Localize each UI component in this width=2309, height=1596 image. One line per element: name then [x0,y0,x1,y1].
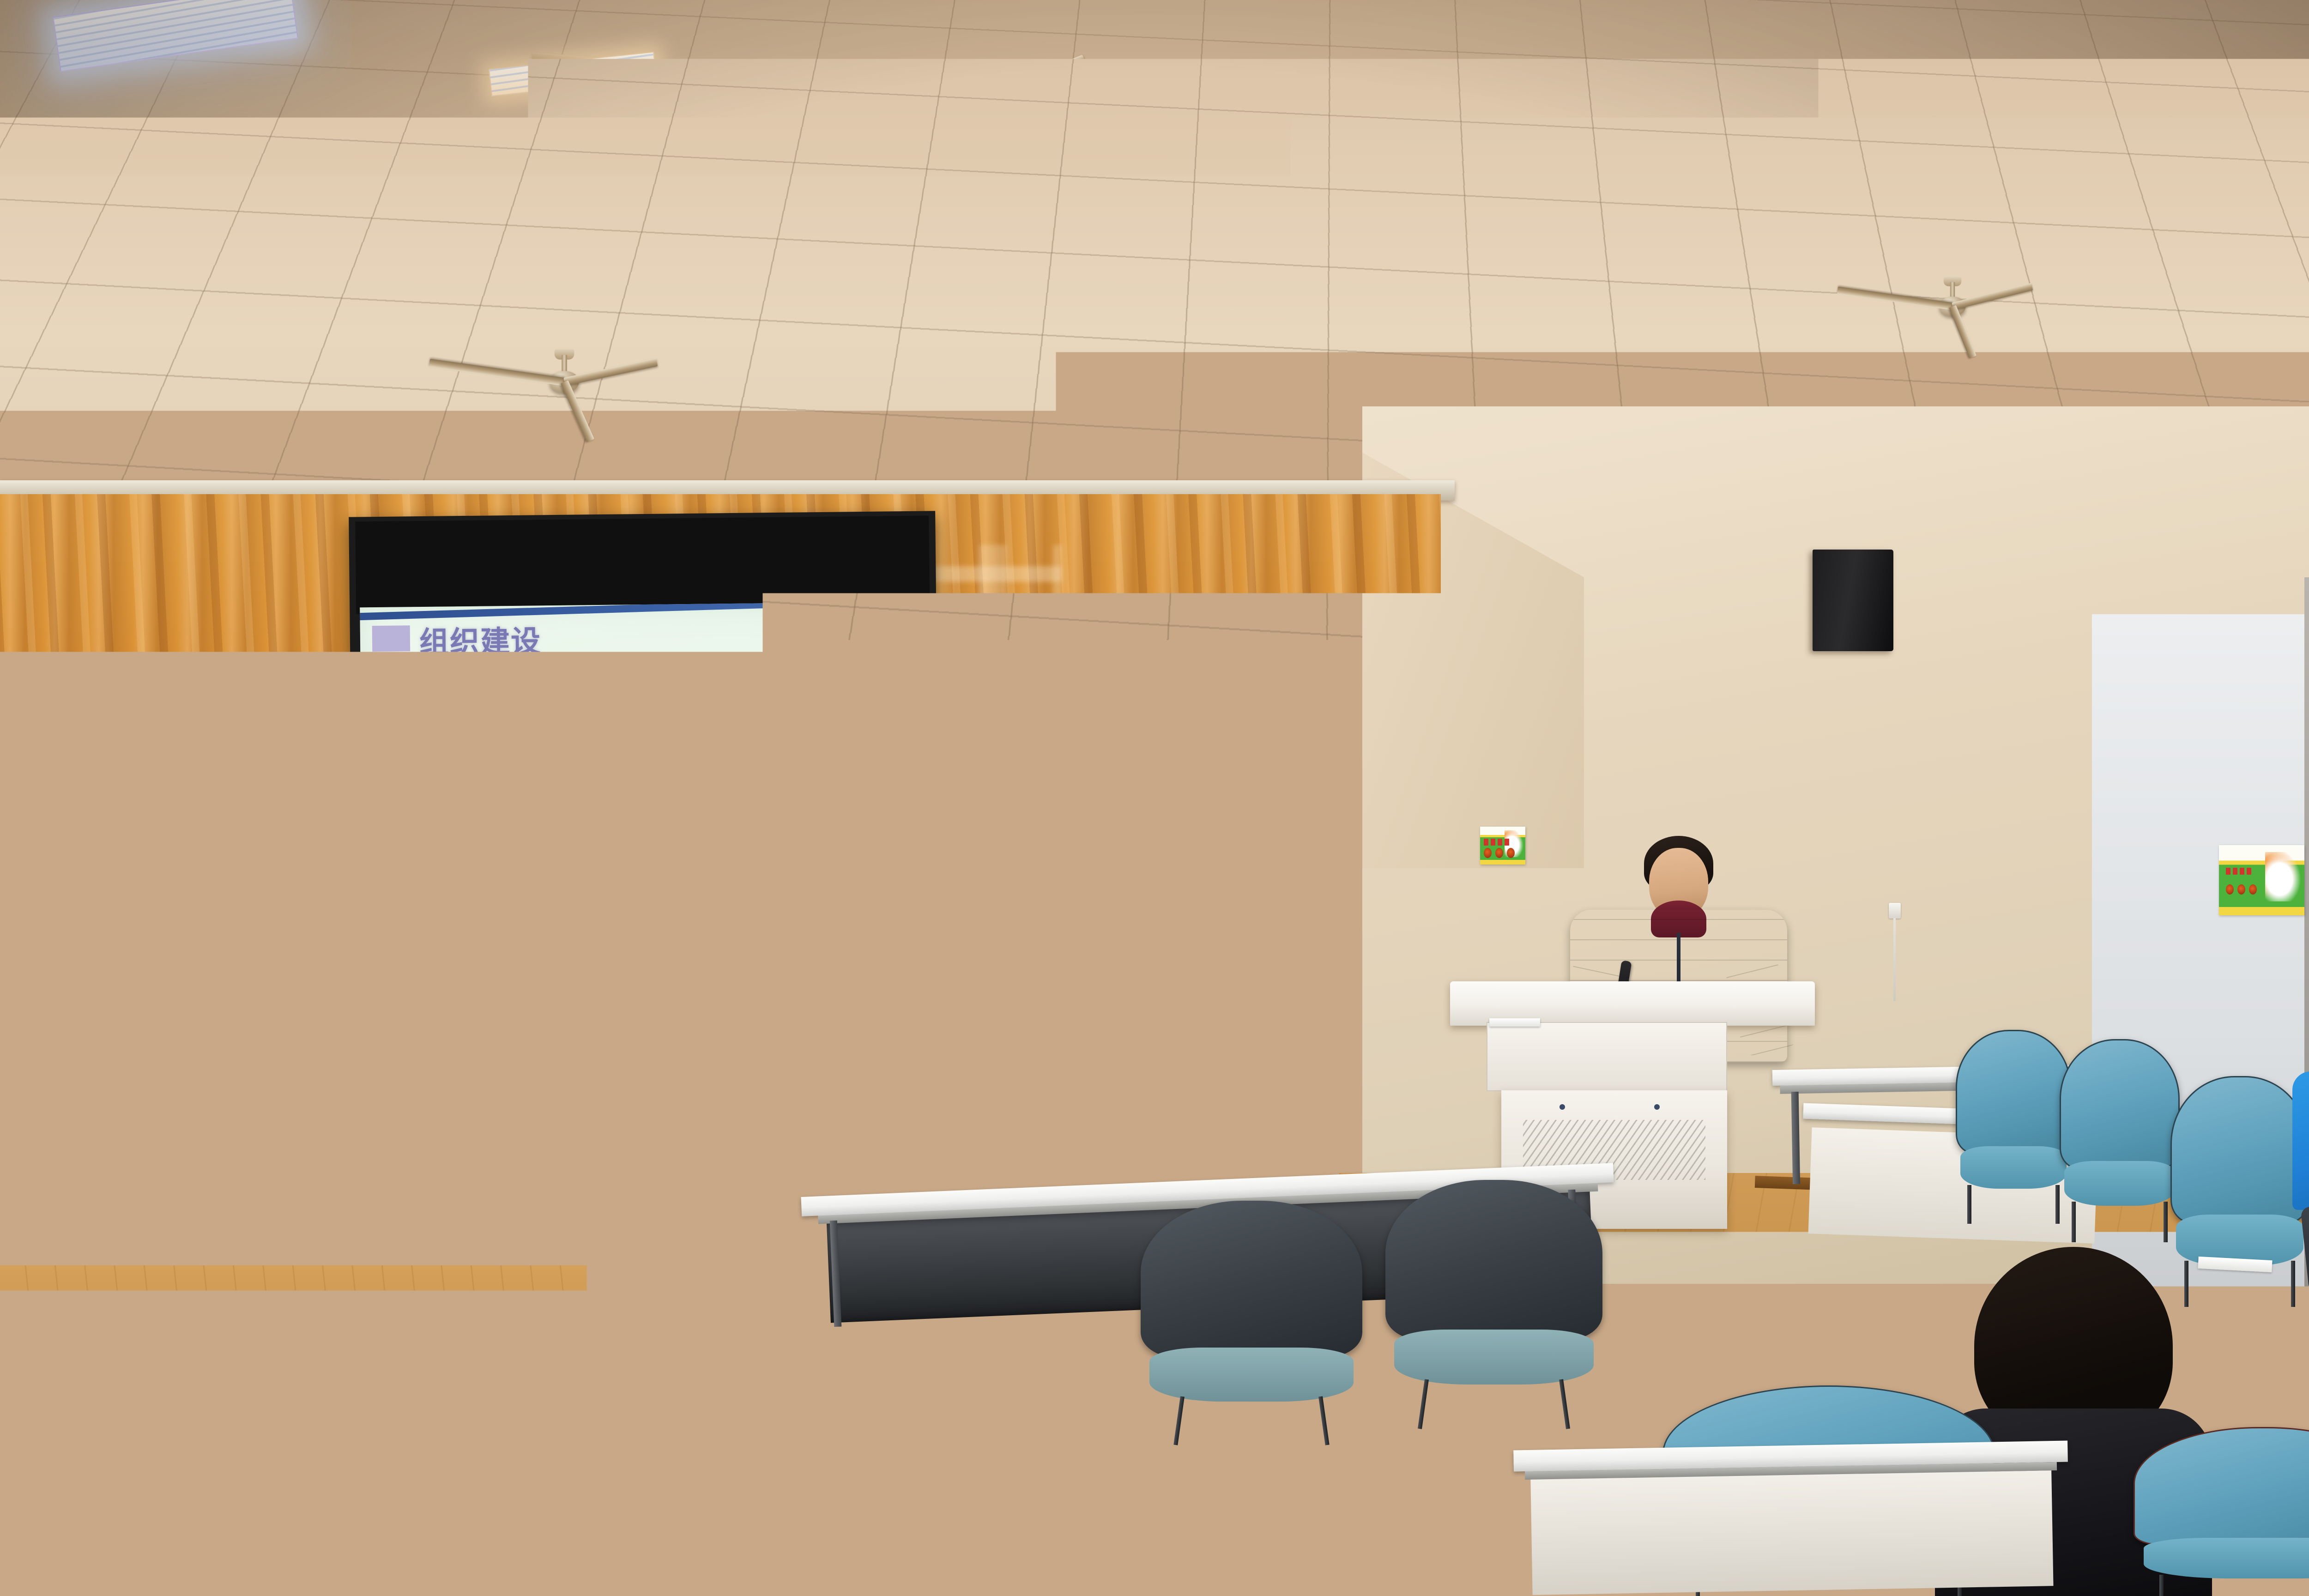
chair-blue-5[interactable] [2134,1427,2309,1596]
ceiling-projector[interactable] [997,427,1123,480]
chair-back [1385,1180,1602,1340]
stage-spotlight-2[interactable] [739,226,804,277]
poster-thumbnails-icon [1484,848,1515,858]
chair-back [1141,1201,1362,1357]
podium-front-panel [1487,1022,1727,1091]
legend-label-blue: 入党积极分子 [726,757,785,772]
ceiling-fan-4 [1943,282,1962,311]
table-leg [1791,1092,1800,1184]
chair-seat [1960,1146,2067,1189]
wall-light-switch[interactable] [1889,903,1901,919]
chair-blue-2[interactable] [2060,1039,2180,1242]
stage-spotlight-1[interactable] [129,139,208,199]
poster-thumbnails-icon [2226,884,2257,895]
ceiling-fan-2 [552,355,576,392]
stage-spotlight-6[interactable] [28,434,79,475]
pie-chart-right-legend: 入党积极分子 共青团员 [643,756,924,773]
chair-back [2060,1039,2180,1169]
legend-label-blue: 预备党员 [455,760,494,774]
chair-back [1956,1030,2071,1154]
legend-label-orange: 共青团员 [520,760,558,774]
poster-headline-icon [1484,839,1509,846]
pie-chart-right-graphic: 24% 76% [643,778,925,919]
pie-chart-left-title: 预备党员占比 [361,738,642,762]
pie-chart-left: 预备党员占比 预备党员 共青团员 9% [361,738,644,926]
projection-screen: 组织建设 2.思想建设 预备党员占比 预备党员 共青团员 [349,511,940,946]
ceiling-light-5 [804,323,1118,374]
pie-chart-right-title: 入党积极分子占比 [642,736,924,759]
switch-pull-cord[interactable] [1893,918,1896,1001]
front-table-right [1513,1441,2070,1596]
slide-accent-square [372,625,411,652]
presentation-slide: 组织建设 2.思想建设 预备党员占比 预备党员 共青团员 [360,602,925,931]
stage-spotlight-3[interactable] [1238,309,1295,356]
wall-speaker [1813,550,1893,651]
chair-legs [2159,1575,2309,1596]
chair-back [2134,1427,2309,1545]
legend-swatch-blue [717,762,723,768]
projector-cable [1065,425,1116,439]
audience-blue-jacket [2292,1071,2309,1210]
poster-illustration-icon [2265,852,2301,901]
pie-chart-right: 入党积极分子占比 入党积极分子 共青团员 24% [642,736,925,923]
chair-seat [2064,1161,2175,1206]
audience-member-blue-jacket [2295,1002,2309,1298]
chair-seat [2144,1538,2309,1578]
poster-headline-icon [2226,868,2251,875]
podium-fastener-left [1559,1104,1565,1110]
table-hinge-right [1316,1463,1362,1478]
ceiling-grille-1 [757,418,952,482]
pie-right-minor-label: 24% [801,800,819,810]
podium-papers[interactable] [1489,1018,1540,1027]
ceiling-light-4 [535,290,832,351]
safety-poster-left [1480,827,1525,864]
screen-masking-band [355,516,930,614]
chair-back [2170,1076,2309,1224]
pie-left-minor-label: 9% [512,792,525,803]
table-hinge-left [1246,1461,1293,1476]
stage-spotlight-4[interactable] [1644,351,1699,395]
pie-chart-left-legend: 预备党员 共青团员 [362,759,643,775]
table-modesty-panel [1530,1470,2053,1595]
pie-right-major-label: 76% [749,849,767,859]
legend-label-orange: 共青团员 [810,756,849,771]
slide-subtitle: 2.思想建设 [430,677,522,705]
ceiling-fan-1 [937,79,974,134]
chair-blue-1[interactable] [1956,1030,2071,1224]
slide-charts: 预备党员占比 预备党员 共青团员 9% [361,736,925,926]
legend-swatch-orange [801,761,807,767]
projector-power-led [1049,469,1057,475]
legend-swatch-orange [510,764,516,770]
lecture-hall-photo: 组织建设 2.思想建设 预备党员占比 预备党员 共青团员 [0,0,2309,1596]
safety-poster-right [2219,845,2304,915]
ceiling-light-7 [1306,131,1658,197]
pie-chart-left-graphic: 9% 91% [362,781,644,922]
chair-legs [2072,1202,2168,1242]
chair-legs [1967,1185,2060,1224]
projector-ports [1007,459,1040,465]
legend-swatch-blue [446,765,452,771]
pie-left-major-label: 91% [484,851,501,861]
slide-title: 组织建设 [419,617,541,661]
